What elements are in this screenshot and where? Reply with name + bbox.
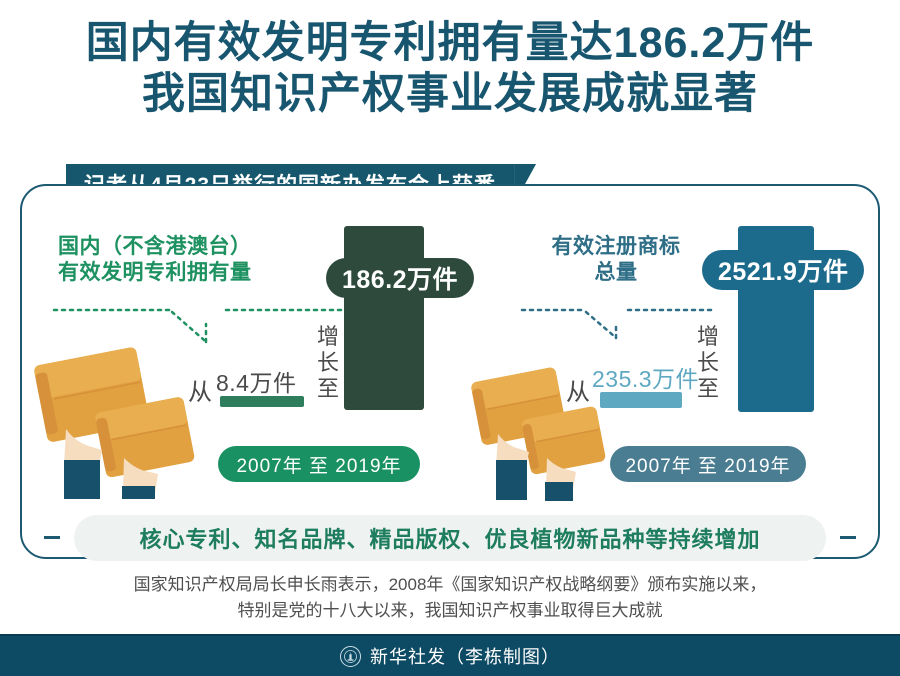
capsule-dash-left <box>44 536 60 539</box>
section-registered-trademarks: 有效注册商标 总量 <box>450 184 880 559</box>
start-bar-trademarks <box>600 392 682 408</box>
credit-text: 新华社发（李栋制图） <box>370 643 560 669</box>
start-value-domestic: 8.4万件 <box>216 364 296 398</box>
footnote-line-2: 特别是党的十八大以来，我国知识产权事业取得巨大成就 <box>50 598 850 624</box>
credit-bar: 新华社发（李栋制图） <box>0 634 900 676</box>
xinhua-logo-icon <box>340 646 361 667</box>
hands-documents-illustration <box>28 334 208 504</box>
year-range-domestic: 2007年 至 2019年 <box>218 446 420 482</box>
growth-label-domestic: 增 长 至 <box>316 324 340 402</box>
leader-line-domestic <box>54 306 354 320</box>
summary-capsule: 核心专利、知名品牌、精品版权、优良植物新品种等持续增加 <box>74 515 826 561</box>
year-range-trademarks: 2007年 至 2019年 <box>610 446 806 482</box>
footnote-line-1: 国家知识产权局局长申长雨表示，2008年《国家知识产权战略纲要》颁布实施以来， <box>50 572 850 598</box>
section-domestic-patents: 国内（不含港澳台） 有效发明专利拥有量 <box>20 184 450 559</box>
section-title-trademarks: 有效注册商标 总量 <box>526 234 706 285</box>
start-value-trademarks: 235.3万件 <box>592 360 699 394</box>
from-char-trademarks: 从 <box>566 372 590 407</box>
end-bar-domestic <box>344 226 424 410</box>
from-char-domestic: 从 <box>188 372 212 407</box>
growth-label-trademarks: 增 长 至 <box>696 324 720 402</box>
footnote: 国家知识产权局局长申长雨表示，2008年《国家知识产权战略纲要》颁布实施以来， … <box>50 572 850 625</box>
end-value-pill-trademarks: 2521.9万件 <box>702 250 864 290</box>
headline-line-2: 我国知识产权事业发展成就显著 <box>0 69 900 120</box>
capsule-dash-right <box>840 536 856 539</box>
start-bar-domestic <box>220 396 304 407</box>
page-title: 国内有效发明专利拥有量达186.2万件 我国知识产权事业发展成就显著 <box>0 18 900 119</box>
headline-line-1: 国内有效发明专利拥有量达186.2万件 <box>0 18 900 69</box>
infographic-poster: 国内有效发明专利拥有量达186.2万件 我国知识产权事业发展成就显著 记者从4月… <box>0 0 900 676</box>
section-title-domestic-patents: 国内（不含港澳台） 有效发明专利拥有量 <box>58 234 252 285</box>
leader-line-trademarks <box>522 306 712 320</box>
